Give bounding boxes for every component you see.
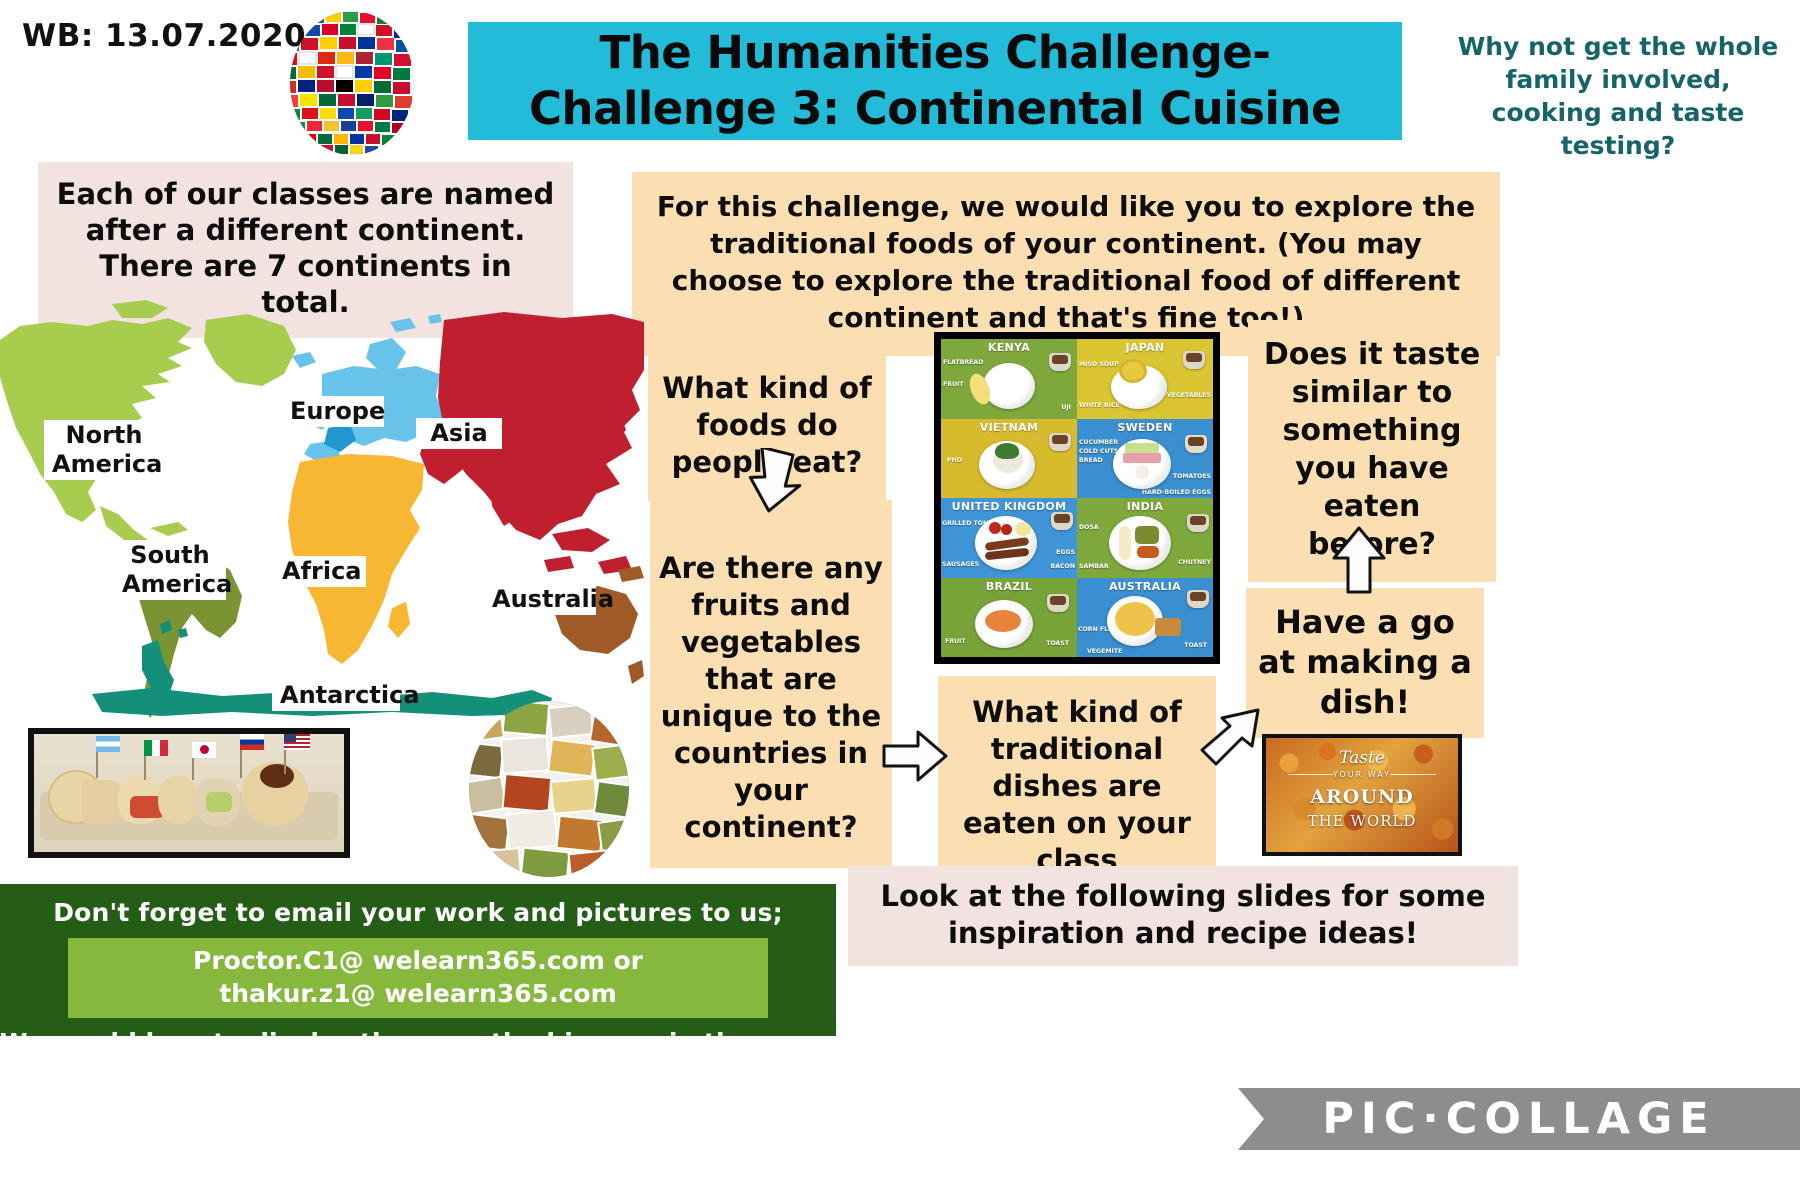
international-food-photo	[28, 728, 350, 858]
map-region-europe-islands	[390, 314, 442, 332]
arrow-down-icon	[742, 448, 812, 516]
taste-line-3: AROUND	[1266, 786, 1458, 808]
map-region-greenland	[204, 314, 296, 386]
arrow-up-icon	[1330, 524, 1388, 596]
title-line-2: Challenge 3: Continental Cuisine	[529, 81, 1341, 137]
taste-around-world-photo: Taste YOUR WAY AROUND THE WORLD	[1262, 734, 1462, 856]
map-region-madagascar	[388, 602, 410, 638]
food-cell-sweden: SWEDEN CUCUMBER COLD CUTS BREAD TOMATOES…	[1077, 419, 1213, 499]
food-tag: TOAST	[1046, 640, 1069, 647]
food-tag: COLD CUTS	[1079, 448, 1118, 455]
food-tag: EGGS	[1056, 549, 1075, 556]
map-label-europe: Europe	[282, 396, 384, 427]
map-region-canada-islands	[112, 300, 168, 318]
food-tag: TOAST	[1184, 642, 1207, 649]
flag-globe-icon	[268, 8, 436, 158]
food-tag: SAMBAR	[1079, 563, 1109, 570]
poster-canvas: WB: 13.07.2020	[0, 0, 1800, 1200]
map-region-new-zealand	[628, 660, 644, 684]
question-box-fruits-vegetables: Are there any fruits and vegetables that…	[650, 500, 892, 868]
food-tag: TOMATOES	[1173, 473, 1211, 480]
food-tag: HARD-BOILED EGGS	[1142, 489, 1211, 496]
food-cell-japan: JAPAN MISO SOUP WHITE RICE PICKLED VEGET…	[1077, 339, 1213, 419]
contact-email-panel: Don't forget to email your work and pict…	[0, 884, 836, 1036]
food-cell-brazil: BRAZIL FRUIT TOAST	[941, 578, 1077, 658]
piccollage-watermark: PIC·COLLAGE	[1238, 1088, 1800, 1150]
food-tag: BREAD	[1079, 457, 1103, 464]
food-cell-australia: AUSTRALIA CORN FLAKES VEGEMITE TOAST	[1077, 578, 1213, 658]
email-address-1[interactable]: Proctor.C1@ welearn365.com or	[68, 944, 768, 977]
week-beginning-date: WB: 13.07.2020	[22, 18, 306, 54]
map-label-north-america: North America	[44, 420, 164, 480]
food-cell-india: INDIA DOSA SAMBAR CHUTNEY	[1077, 498, 1213, 578]
question-box-make-a-dish: Have a go at making a dish!	[1246, 588, 1484, 738]
arrow-right-icon	[880, 726, 950, 788]
map-label-south-america: South America	[114, 540, 226, 600]
email-heading: Don't forget to email your work and pict…	[53, 896, 783, 930]
email-address-2[interactable]: thakur.z1@ welearn365.com	[68, 977, 768, 1010]
food-tag: BACON	[1051, 563, 1075, 570]
food-tag: CHUTNEY	[1178, 559, 1211, 566]
food-tag: MISO SOUP	[1079, 361, 1119, 368]
food-tag: DOSA	[1079, 524, 1099, 531]
piccollage-watermark-text: PIC·COLLAGE	[1322, 1094, 1715, 1144]
world-breakfasts-photo-grid: KENYA FLATBREAD FRUIT UJI JAPAN MISO SOU…	[934, 332, 1220, 664]
arrow-up-right-icon	[1196, 704, 1270, 770]
food-tag: SAUSAGES	[942, 561, 979, 568]
email-address-band: Proctor.C1@ welearn365.com or thakur.z1@…	[68, 938, 768, 1018]
food-photo-collage-sphere	[458, 700, 640, 878]
map-label-africa: Africa	[274, 556, 366, 587]
email-footer-note: We would love to display these on the bi…	[0, 1028, 836, 1086]
title-line-1: The Humanities Challenge-	[600, 25, 1271, 81]
poster-title-banner: The Humanities Challenge- Challenge 3: C…	[468, 22, 1402, 140]
inspiration-slides-box: Look at the following slides for some in…	[848, 866, 1518, 966]
food-cell-kenya: KENYA FLATBREAD FRUIT UJI	[941, 339, 1077, 419]
food-tag: VEGEMITE	[1087, 648, 1122, 655]
food-tag: CUCUMBER	[1079, 439, 1118, 446]
food-cell-vietnam: VIETNAM PHO	[941, 419, 1077, 499]
map-region-scandinavia	[366, 338, 406, 370]
map-label-antarctica: Antarctica	[272, 680, 400, 711]
food-tag: FRUIT	[943, 381, 964, 388]
family-involvement-note: Why not get the whole family involved, c…	[1448, 30, 1788, 162]
map-region-iceland	[292, 352, 316, 368]
taste-line-1: Taste	[1266, 748, 1458, 768]
map-region-sea-islands	[544, 528, 632, 574]
map-label-australia: Australia	[484, 584, 596, 615]
taste-line-2: YOUR WAY	[1266, 770, 1458, 779]
food-tag: FLATBREAD	[943, 359, 983, 366]
map-region-caribbean	[150, 522, 188, 536]
food-tag: WHITE RICE	[1079, 402, 1120, 409]
food-tag: UJI	[1061, 404, 1071, 411]
map-label-asia: Asia	[416, 418, 502, 449]
food-cell-united-kingdom: UNITED KINGDOM GRILLED TOMATOES SAUSAGES…	[941, 498, 1077, 578]
world-map: North America South America Europe Afric…	[0, 278, 644, 730]
taste-line-4: THE WORLD	[1266, 812, 1458, 830]
food-tag: FRUIT	[945, 638, 966, 645]
food-tag: PHO	[947, 457, 962, 464]
